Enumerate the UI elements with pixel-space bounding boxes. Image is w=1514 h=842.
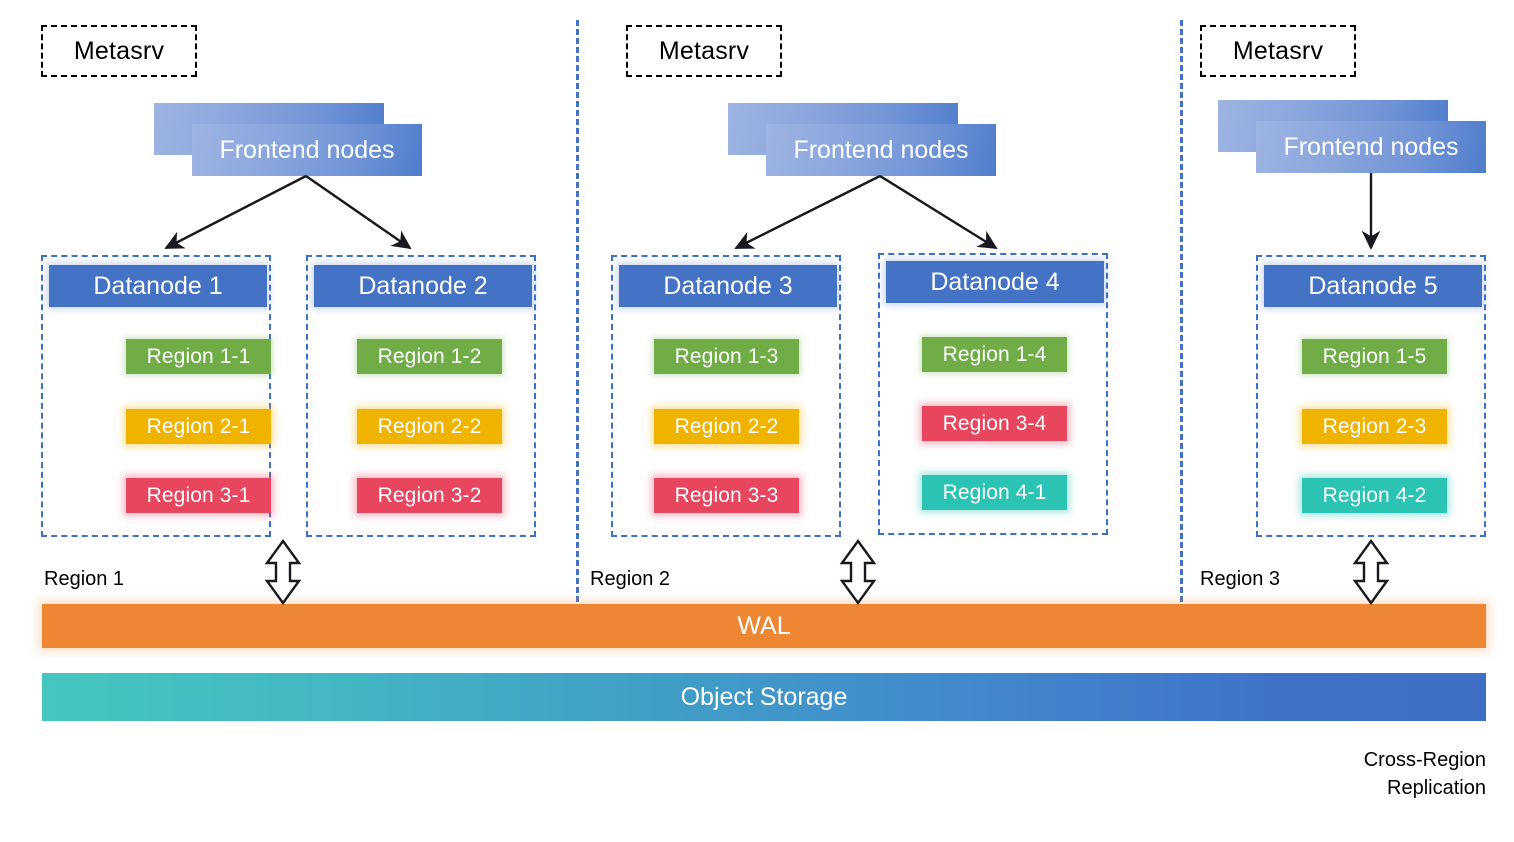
- frontend-card-front: Frontend nodes: [766, 124, 996, 176]
- metasrv-box-2: Metasrv: [626, 25, 782, 77]
- region-chip: Region 1-5: [1302, 339, 1447, 374]
- frontend-card-front: Frontend nodes: [1256, 121, 1486, 173]
- cross-region-line1: Cross-Region: [1186, 746, 1486, 774]
- object-storage-label: Object Storage: [681, 683, 848, 712]
- region-chip: Region 1-1: [126, 339, 271, 374]
- metasrv-box-1: Metasrv: [41, 25, 197, 77]
- frontend-nodes-3: Frontend nodes: [1218, 100, 1486, 173]
- datanode-header: Datanode 1: [49, 265, 267, 307]
- datanode-wal-double-arrow-1: [267, 541, 299, 603]
- region-chip: Region 2-2: [654, 409, 799, 444]
- frontend-nodes-label: Frontend nodes: [1283, 133, 1458, 162]
- frontend-nodes-label: Frontend nodes: [219, 136, 394, 165]
- region-chip: Region 2-2: [357, 409, 502, 444]
- region-label-3: Region 3: [1200, 568, 1280, 591]
- region-chip-label: Region 1-2: [378, 345, 482, 369]
- datanode-name: Datanode 3: [663, 272, 792, 301]
- cross-region-replication-caption: Cross-Region Replication: [1186, 746, 1486, 802]
- region-chip-label: Region 3-4: [943, 412, 1047, 436]
- region-label-2: Region 2: [590, 568, 670, 591]
- region-chip-label: Region 3-3: [675, 484, 779, 508]
- datanode-wal-double-arrow-3: [1355, 541, 1387, 603]
- region-chip: Region 1-4: [922, 337, 1067, 372]
- datanode-container-1: Datanode 1 Region 1-1 Region 2-1 Region …: [41, 255, 271, 537]
- frontend-nodes-label: Frontend nodes: [793, 136, 968, 165]
- region-chip-label: Region 2-2: [378, 415, 482, 439]
- datanode-name: Datanode 4: [930, 268, 1059, 297]
- datanode-name: Datanode 2: [358, 272, 487, 301]
- datanode-container-3: Datanode 3 Region 1-3 Region 2-2 Region …: [611, 255, 841, 537]
- frontend-to-datanode-arrows-1: [166, 176, 410, 248]
- region-chip: Region 1-2: [357, 339, 502, 374]
- wal-bar: WAL: [42, 604, 1486, 648]
- region-chip-label: Region 4-1: [943, 481, 1047, 505]
- datanode-header: Datanode 5: [1264, 265, 1482, 307]
- region-divider-1: [576, 20, 579, 602]
- frontend-nodes-1: Frontend nodes: [154, 103, 422, 176]
- region-chip: Region 3-4: [922, 406, 1067, 441]
- metasrv-label: Metasrv: [1233, 37, 1323, 66]
- datanode-name: Datanode 1: [93, 272, 222, 301]
- region-chip-label: Region 1-1: [147, 345, 251, 369]
- metasrv-box-3: Metasrv: [1200, 25, 1356, 77]
- region-label-text: Region 2: [590, 568, 670, 590]
- region-chip-label: Region 2-1: [147, 415, 251, 439]
- region-chip-label: Region 1-4: [943, 343, 1047, 367]
- diagram-canvas: Metasrv Frontend nodes Datanode 1 Region…: [0, 0, 1514, 842]
- datanode-header: Datanode 3: [619, 265, 837, 307]
- object-storage-bar: Object Storage: [42, 673, 1486, 721]
- datanode-header: Datanode 2: [314, 265, 532, 307]
- metasrv-label: Metasrv: [659, 37, 749, 66]
- frontend-card-front: Frontend nodes: [192, 124, 422, 176]
- region-divider-2: [1180, 20, 1183, 602]
- datanode-wal-double-arrow-2: [842, 541, 874, 603]
- region-chip-label: Region 1-5: [1323, 345, 1427, 369]
- region-chip: Region 2-1: [126, 409, 271, 444]
- frontend-nodes-2: Frontend nodes: [728, 103, 996, 176]
- region-label-1: Region 1: [44, 568, 124, 591]
- region-chip-label: Region 4-2: [1323, 484, 1427, 508]
- cross-region-line2: Replication: [1186, 774, 1486, 802]
- frontend-to-datanode-arrows-2: [736, 176, 996, 248]
- datanode-name: Datanode 5: [1308, 272, 1437, 301]
- datanode-container-4: Datanode 4 Region 1-4 Region 3-4 Region …: [878, 253, 1108, 535]
- datanode-header: Datanode 4: [886, 261, 1104, 303]
- region-chip: Region 3-3: [654, 478, 799, 513]
- region-chip: Region 2-3: [1302, 409, 1447, 444]
- region-chip: Region 4-1: [922, 475, 1067, 510]
- region-chip: Region 4-2: [1302, 478, 1447, 513]
- metasrv-label: Metasrv: [74, 37, 164, 66]
- region-chip: Region 3-1: [126, 478, 271, 513]
- region-chip-label: Region 3-2: [378, 484, 482, 508]
- datanode-container-2: Datanode 2 Region 1-2 Region 2-2 Region …: [306, 255, 536, 537]
- wal-label: WAL: [737, 612, 790, 641]
- region-label-text: Region 3: [1200, 568, 1280, 590]
- region-chip: Region 1-3: [654, 339, 799, 374]
- region-chip-label: Region 2-2: [675, 415, 779, 439]
- datanode-container-5: Datanode 5 Region 1-5 Region 2-3 Region …: [1256, 255, 1486, 537]
- region-label-text: Region 1: [44, 568, 124, 590]
- region-chip-label: Region 1-3: [675, 345, 779, 369]
- region-chip: Region 3-2: [357, 478, 502, 513]
- region-chip-label: Region 3-1: [147, 484, 251, 508]
- region-chip-label: Region 2-3: [1323, 415, 1427, 439]
